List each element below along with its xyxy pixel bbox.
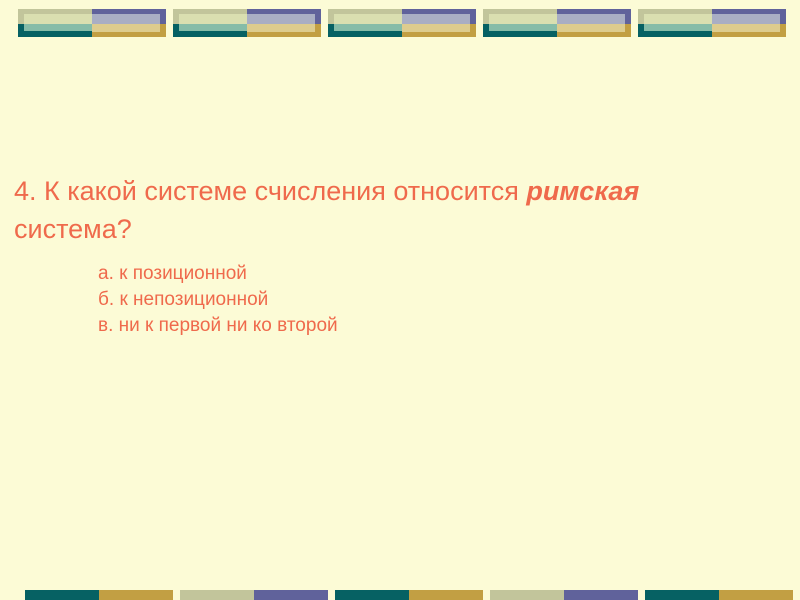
answer-option-c[interactable]: в. ни к первой ни ко второй <box>98 313 718 339</box>
question-emphasis-word: римская <box>526 176 639 206</box>
decor-block-teal <box>335 590 409 600</box>
bottom-decor-tile <box>645 590 793 600</box>
question-text-before: 4. К какой системе счисления относится <box>14 176 526 206</box>
decor-block-sage <box>490 590 564 600</box>
question-text-after: система? <box>14 214 132 244</box>
decor-block-teal <box>645 590 719 600</box>
decor-block-sage <box>180 590 254 600</box>
answer-option-a[interactable]: а. к позиционной <box>98 261 718 287</box>
answer-option-b[interactable]: б. к непозиционной <box>98 287 718 313</box>
slide-content: 4. К какой системе счисления относится р… <box>0 0 800 600</box>
decor-block-purple <box>564 590 638 600</box>
bottom-decor-tile <box>180 590 328 600</box>
bottom-decor-tile <box>490 590 638 600</box>
bottom-decorative-band <box>0 586 800 600</box>
bottom-decor-tile <box>25 590 173 600</box>
answer-options-list: а. к позиционной б. к непозиционной в. н… <box>98 261 718 339</box>
decor-block-purple <box>254 590 328 600</box>
bottom-decor-tile <box>335 590 483 600</box>
decor-block-teal <box>25 590 99 600</box>
question-heading: 4. К какой системе счисления относится р… <box>14 172 714 248</box>
decor-block-gold <box>99 590 173 600</box>
decor-block-gold <box>719 590 793 600</box>
decor-block-gold <box>409 590 483 600</box>
